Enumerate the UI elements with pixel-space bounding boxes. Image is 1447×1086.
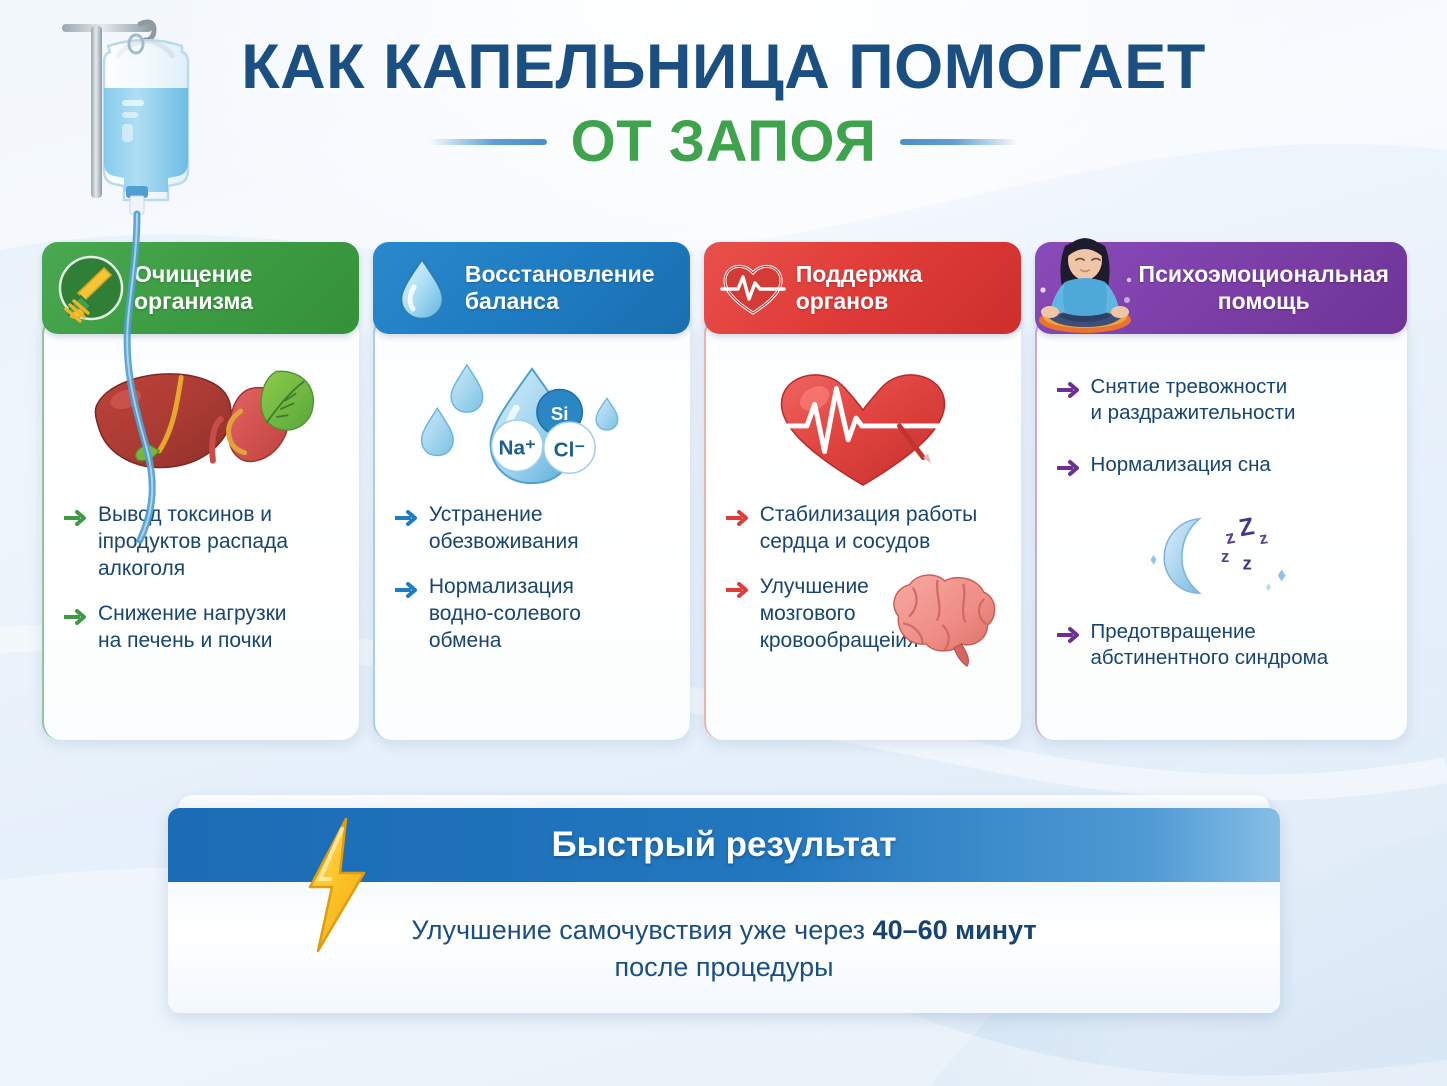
card-psycho-bullets: Снятие тревожности и раздражительности Н… [1051, 348, 1393, 671]
bullet-text: Стабилизация работы сердца и сосудов [760, 502, 978, 556]
page-subtitle: ОТ ЗАПОЯ [571, 108, 877, 175]
fast-result-banner[interactable]: Быстрый результат Улучшение самочувствия… [168, 795, 1280, 1013]
bullet-text: Устранение обезвоживания [429, 502, 579, 556]
card-balance-body: Si Na⁺ Cl⁻ Устранение обезвоживания [373, 316, 690, 740]
divider-rule-left [429, 139, 547, 145]
arrow-right-icon [395, 508, 419, 528]
bullet-text: Нормализация водно-солевого обмена [429, 574, 581, 655]
banner-header: Быстрый результат [168, 808, 1280, 882]
bullet-text: Снижение нагрузки на печень и почки [98, 601, 287, 655]
card-organs-body: Стабилизация работы сердца и сосудов Улу… [704, 316, 1021, 740]
ion-label-cl: Cl⁻ [554, 439, 586, 462]
list-item: Нормализация сна [1057, 452, 1387, 478]
svg-text:z: z [1221, 547, 1229, 566]
card-organs-header: Поддержка органов [704, 242, 1021, 334]
card-balance-header: Восстановление баланса [373, 242, 690, 334]
card-organs-bullets: Стабилизация работы сердца и сосудов Улу… [720, 502, 1007, 654]
svg-text:z: z [1258, 528, 1269, 548]
heart-pulse-icon [716, 251, 790, 325]
list-item: Снижение нагрузки на печень и почки [64, 601, 339, 655]
arrow-right-icon [1057, 625, 1081, 645]
card-organs[interactable]: Поддержка органов [704, 242, 1021, 740]
arrow-right-icon [726, 580, 750, 600]
benefit-cards-row: Очищение организма [42, 242, 1407, 740]
list-item: Предотвращение абстинентного синдрома [1057, 619, 1387, 671]
card-psycho-body: Снятие тревожности и раздражительности Н… [1035, 316, 1407, 740]
svg-text:z: z [1223, 525, 1236, 547]
banner-card: Быстрый результат Улучшение самочувствия… [168, 808, 1280, 1013]
arrow-right-icon [395, 580, 419, 600]
banner-line-2: после процедуры [188, 952, 1260, 983]
list-item: Нормализация водно-солевого обмена [395, 574, 670, 655]
card-organs-title: Поддержка органов [796, 261, 923, 315]
meditating-woman-icon [1031, 230, 1139, 338]
card-cleansing-body: Вывод токсинов и іпродуктов распада алко… [42, 316, 359, 740]
card-balance-title: Восстановление баланса [465, 261, 655, 315]
banner-line-1: Улучшение самочувствия уже через 40–60 м… [188, 912, 1260, 948]
divider-rule-right [900, 139, 1018, 145]
broom-icon [54, 251, 128, 325]
arrow-right-icon [64, 607, 88, 627]
page-title: КАК КАПЕЛЬНИЦА ПОМОГАЕТ [0, 34, 1447, 100]
sleeping-moon-illustration: z Z z z z [1057, 509, 1387, 599]
svg-text:Z: Z [1237, 513, 1256, 542]
card-cleansing-header: Очищение организма [42, 242, 359, 334]
page-header: КАК КАПЕЛЬНИЦА ПОМОГАЕТ ОТ ЗАПОЯ [0, 34, 1447, 175]
heart-heartbeat-illustration [720, 348, 1007, 500]
list-item: Снятие тревожности и раздражительности [1057, 374, 1387, 426]
card-psycho[interactable]: Психоэмоциональная помощь Снятие тревожн… [1035, 242, 1407, 740]
banner-body: Улучшение самочувствия уже через 40–60 м… [168, 882, 1280, 1013]
card-balance[interactable]: Восстановление баланса [373, 242, 690, 740]
bullet-text: Предотвращение абстинентного синдрома [1091, 619, 1329, 671]
list-item: Улучшение мозгового кровообращеіия [726, 574, 1001, 655]
list-item: Вывод токсинов и іпродуктов распада алко… [64, 502, 339, 583]
bullet-text: Нормализация сна [1091, 452, 1271, 478]
card-balance-bullets: Устранение обезвоживания Нормализация во… [389, 502, 676, 654]
card-cleansing[interactable]: Очищение организма [42, 242, 359, 740]
water-drops-electrolytes-illustration: Si Na⁺ Cl⁻ [389, 348, 676, 500]
banner-duration-highlight: 40–60 минут [873, 915, 1037, 945]
water-drop-icon [385, 251, 459, 325]
liver-kidney-leaf-illustration [58, 348, 345, 500]
arrow-right-icon [64, 508, 88, 528]
list-item: Стабилизация работы сердца и сосудов [726, 502, 1001, 556]
banner-line1-prefix: Улучшение самочувствия уже через [411, 915, 872, 945]
ion-label-si: Si [551, 403, 569, 424]
bullet-text: Вывод токсинов и іпродуктов распада алко… [98, 502, 288, 583]
arrow-right-icon [726, 508, 750, 528]
ion-label-na: Na⁺ [499, 437, 536, 460]
svg-text:z: z [1242, 552, 1251, 573]
arrow-right-icon [1057, 458, 1081, 478]
subtitle-row: ОТ ЗАПОЯ [0, 108, 1447, 175]
list-item: Устранение обезвоживания [395, 502, 670, 556]
arrow-right-icon [1057, 380, 1081, 400]
banner-title: Быстрый результат [552, 825, 897, 865]
card-cleansing-title: Очищение организма [134, 261, 253, 315]
card-psycho-title: Психоэмоциональная помощь [1139, 261, 1395, 315]
card-cleansing-bullets: Вывод токсинов и іпродуктов распада алко… [58, 502, 345, 654]
bullet-text: Улучшение мозгового кровообращеіия [760, 574, 919, 655]
bullet-text: Снятие тревожности и раздражительности [1091, 374, 1296, 426]
card-psycho-header: Психоэмоциональная помощь [1035, 242, 1407, 334]
